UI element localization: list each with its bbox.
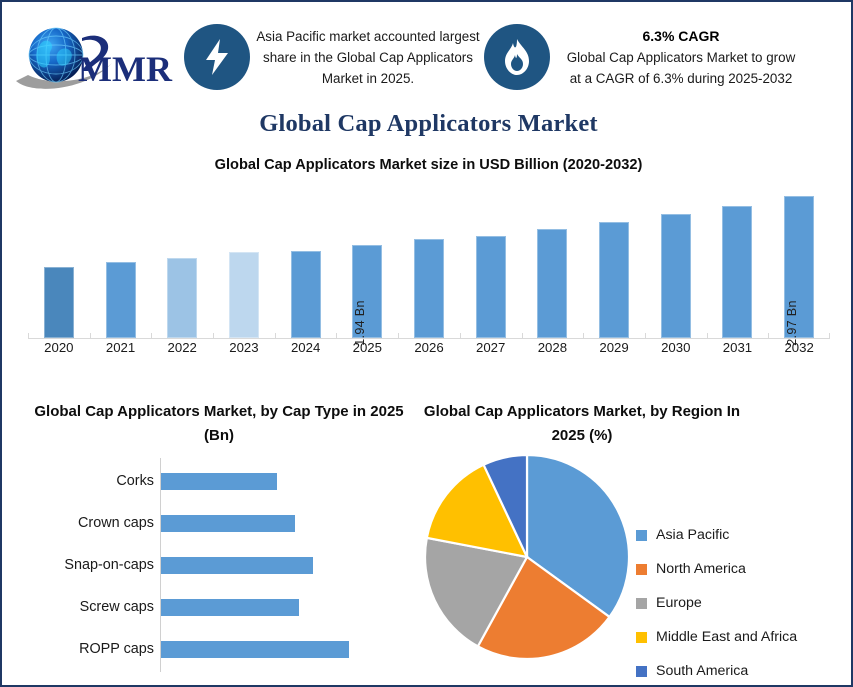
bar-2026 — [414, 239, 444, 338]
x-axis-label-2021: 2021 — [90, 340, 152, 355]
cap-type-chart-title: Global Cap Applicators Market, by Cap Ty… — [24, 400, 414, 448]
region-chart-title: Global Cap Applicators Market, by Region… — [422, 400, 742, 448]
hbar-row-ropp-caps: ROPP caps — [24, 628, 414, 670]
pie-legend: Asia PacificNorth AmericaEuropeMiddle Ea… — [636, 518, 844, 687]
hbar-rect-crown-caps — [161, 515, 295, 532]
lightning-bolt-icon — [200, 37, 234, 77]
cagr-description: Global Cap Applicators Market to grow at… — [560, 47, 802, 89]
hbar-rect-corks — [161, 473, 277, 490]
x-axis-label-2020: 2020 — [28, 340, 90, 355]
bar-2031 — [722, 206, 752, 338]
bar-rect-2027 — [476, 236, 506, 338]
x-tick — [829, 333, 830, 338]
legend-item-middle-east-and-africa: Middle East and Africa — [636, 620, 844, 654]
bar-rect-2026 — [414, 239, 444, 338]
bar-rect-2029 — [599, 222, 629, 338]
legend-swatch — [636, 632, 647, 643]
cap-type-plot-area: CorksCrown capsSnap-on-capsScrew capsROP… — [24, 458, 414, 672]
x-tick — [213, 333, 214, 338]
legend-swatch — [636, 530, 647, 541]
x-tick — [336, 333, 337, 338]
x-axis-label-2028: 2028 — [522, 340, 584, 355]
x-tick — [398, 333, 399, 338]
x-tick — [275, 333, 276, 338]
hbar-row-corks: Corks — [24, 460, 414, 502]
x-tick — [460, 333, 461, 338]
bar-value-label-2032: 2.97 Bn — [785, 300, 799, 346]
hbar-label-snap-on-caps: Snap-on-caps — [24, 557, 160, 573]
lightning-bolt-icon-circle — [184, 24, 250, 90]
bar-2023 — [229, 252, 259, 338]
bar-rect-2030 — [661, 214, 691, 338]
x-axis-label-2029: 2029 — [583, 340, 645, 355]
hbar-row-crown-caps: Crown caps — [24, 502, 414, 544]
bar-chart-x-axis: 2020202120222023202420252026202720282029… — [28, 340, 830, 362]
x-axis-label-2024: 2024 — [275, 340, 337, 355]
bar-2024 — [291, 251, 321, 338]
legend-label: Europe — [656, 595, 702, 611]
hbar-row-screw-caps: Screw caps — [24, 586, 414, 628]
bar-value-label-2025: 1.94 Bn — [353, 300, 367, 346]
x-tick — [583, 333, 584, 338]
bar-2020 — [44, 267, 74, 338]
asia-pacific-highlight-text: Asia Pacific market accounted largest sh… — [252, 26, 484, 89]
hbar-label-corks: Corks — [24, 473, 160, 489]
hbar-label-crown-caps: Crown caps — [24, 515, 160, 531]
x-axis-label-2022: 2022 — [151, 340, 213, 355]
svg-text:MMR: MMR — [78, 49, 173, 89]
bar-2029 — [599, 222, 629, 338]
x-axis-label-2026: 2026 — [398, 340, 460, 355]
bar-rect-2022 — [167, 258, 197, 338]
x-axis-label-2032: 2032 — [768, 340, 830, 355]
region-pie-chart: Global Cap Applicators Market, by Region… — [414, 400, 844, 676]
hbar-rect-ropp-caps — [161, 641, 349, 658]
page-title: Global Cap Applicators Market — [2, 110, 853, 138]
x-tick — [28, 333, 29, 338]
bar-chart-plot-area: 1.94 Bn2.97 Bn — [28, 180, 830, 339]
legend-label: Asia Pacific — [656, 527, 729, 543]
pie-plot-area: Asia PacificNorth AmericaEuropeMiddle Ea… — [414, 448, 844, 664]
flame-icon — [502, 37, 532, 77]
x-axis-label-2030: 2030 — [645, 340, 707, 355]
bar-rect-2024 — [291, 251, 321, 338]
flame-icon-circle — [484, 24, 550, 90]
x-axis-label-2025: 2025 — [336, 340, 398, 355]
bar-2030 — [661, 214, 691, 338]
x-axis-label-2031: 2031 — [707, 340, 769, 355]
hbar-row-snap-on-caps: Snap-on-caps — [24, 544, 414, 586]
x-tick — [645, 333, 646, 338]
bar-2027 — [476, 236, 506, 338]
bar-2028 — [537, 229, 567, 338]
bar-rect-2025: 1.94 Bn — [352, 245, 382, 338]
hbar-label-ropp-caps: ROPP caps — [24, 641, 160, 657]
hbar-label-screw-caps: Screw caps — [24, 599, 160, 615]
hbar-rect-screw-caps — [161, 599, 299, 616]
x-axis-label-2027: 2027 — [460, 340, 522, 355]
legend-swatch — [636, 666, 647, 677]
legend-label: Middle East and Africa — [656, 629, 797, 645]
legend-item-south-america: South America — [636, 654, 844, 687]
legend-item-north-america: North America — [636, 552, 844, 586]
legend-item-asia-pacific: Asia Pacific — [636, 518, 844, 552]
market-size-bar-chart: 1.94 Bn2.97 Bn 2020202120222023202420252… — [28, 180, 830, 362]
x-tick — [90, 333, 91, 338]
x-axis-label-2023: 2023 — [213, 340, 275, 355]
header-bar: MMR Asia Pacific market accounted larges… — [8, 8, 845, 106]
cap-type-bar-chart: Global Cap Applicators Market, by Cap Ty… — [24, 400, 414, 676]
infographic-canvas: MMR Asia Pacific market accounted larges… — [0, 0, 853, 687]
bar-rect-2020 — [44, 267, 74, 338]
globe-swoosh-icon: MMR — [8, 19, 184, 95]
bar-2022 — [167, 258, 197, 338]
hbar-rect-snap-on-caps — [161, 557, 313, 574]
bar-rect-2023 — [229, 252, 259, 338]
bar-2021 — [106, 262, 136, 338]
pie-graphic — [422, 452, 632, 662]
x-tick — [522, 333, 523, 338]
x-tick — [707, 333, 708, 338]
bar-chart-title: Global Cap Applicators Market size in US… — [2, 157, 853, 173]
cagr-block: 6.3% CAGR Global Cap Applicators Market … — [560, 25, 802, 89]
bar-rect-2028 — [537, 229, 567, 338]
mmr-logo: MMR — [8, 15, 184, 99]
x-tick — [151, 333, 152, 338]
legend-swatch — [636, 598, 647, 609]
bar-2032: 2.97 Bn — [784, 196, 814, 338]
bar-2025: 1.94 Bn — [352, 245, 382, 338]
bar-rect-2021 — [106, 262, 136, 338]
bar-rect-2031 — [722, 206, 752, 338]
cagr-value: 6.3% CAGR — [560, 25, 802, 47]
legend-item-europe: Europe — [636, 586, 844, 620]
legend-label: South America — [656, 663, 748, 679]
bar-rect-2032: 2.97 Bn — [784, 196, 814, 338]
legend-label: North America — [656, 561, 746, 577]
x-tick — [768, 333, 769, 338]
legend-swatch — [636, 564, 647, 575]
